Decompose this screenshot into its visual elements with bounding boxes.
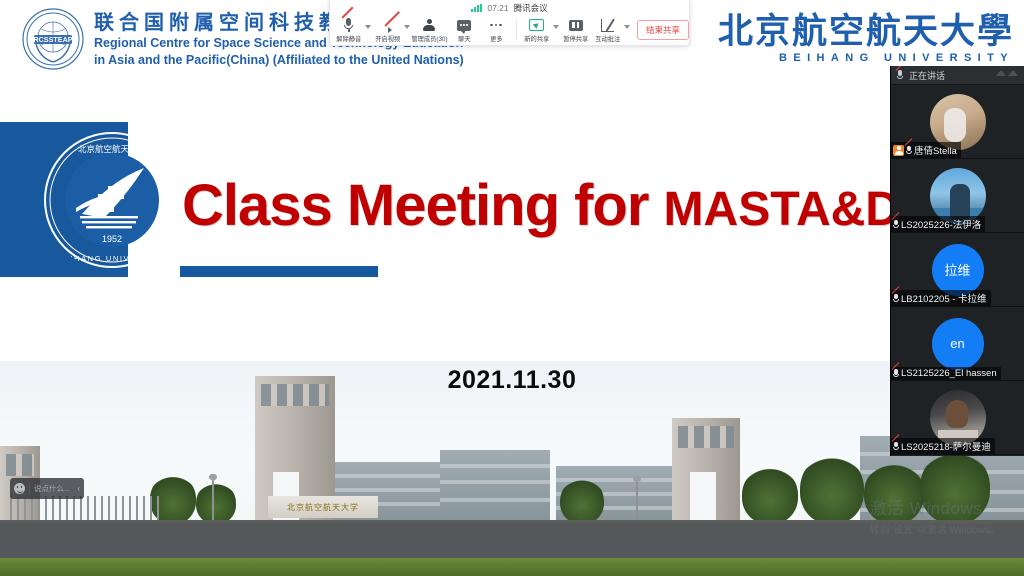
watermark-line1: 激活 Windows: [870, 494, 1000, 519]
unmute-label: 解除静音: [336, 34, 361, 43]
share-options-chevron-down-icon[interactable]: [553, 25, 559, 29]
participant-name-badge: LS2025218-萨尔曼迪: [891, 438, 995, 454]
buaa-seal-logo: 1952 北京航空航天大学 BEIHANG UNIVERSITY: [42, 130, 182, 270]
chat-label: 聊天: [458, 34, 471, 43]
gate-signage-text: 北京航空航天大学: [287, 502, 359, 513]
meeting-status: 07:21 腾讯会议: [330, 1, 689, 14]
mic-muted-icon: [906, 145, 912, 155]
mic-muted-icon: [893, 293, 899, 303]
participant-name-badge: LS2025226-法伊洛: [891, 216, 985, 232]
chat-button[interactable]: 聊天: [448, 14, 480, 46]
participant-name: LS2025226-法伊洛: [901, 217, 981, 231]
annotate-label: 互动批注: [595, 34, 620, 43]
collapse-chevron-up-icon[interactable]: [996, 70, 1018, 76]
participant-name-badge: 唐倩Stella: [891, 142, 961, 158]
participant-name: LS2125226_El hassen: [901, 368, 997, 379]
participant-sidebar: 正在讲话 唐倩Stella LS2025226-法伊洛 拉维 LB2102205…: [890, 66, 1024, 456]
rcssteap-logo-icon: RCSSTEAP: [22, 8, 84, 70]
more-dots-icon: [490, 17, 502, 33]
participant-name: LB2102205 - 卡拉维: [901, 291, 987, 305]
signal-bars-icon: [471, 4, 482, 12]
mic-muted-icon: [893, 441, 899, 451]
participant-tile[interactable]: 拉维 LB2102205 - 卡拉维: [891, 233, 1024, 307]
start-video-label: 开启视频: [375, 34, 400, 43]
buaa-wordmark: 北京航空航天大學 BEIHANG UNIVERSITY: [718, 14, 1014, 64]
mic-muted-icon: [893, 219, 899, 229]
camera-options-chevron-down-icon[interactable]: [404, 25, 410, 29]
gate-signage: 北京航空航天大学: [268, 496, 378, 518]
chat-input-placeholder[interactable]: 说点什么...: [34, 483, 70, 494]
page-title: Class Meeting for MASTA&DOC: [182, 172, 972, 239]
svg-text:RCSSTEAP: RCSSTEAP: [33, 35, 72, 44]
sidebar-header-label: 正在讲话: [909, 69, 945, 82]
manage-participants-button[interactable]: 管理成员(30): [411, 14, 448, 46]
host-badge-icon: [893, 145, 904, 156]
new-share-button[interactable]: 新的共享: [521, 14, 553, 46]
watermark-line2: 转到"设置"以激活 Windows。: [870, 521, 1000, 536]
annotate-pen-icon: [601, 17, 614, 33]
participant-name-badge: LB2102205 - 卡拉维: [891, 290, 991, 306]
sidebar-header: 正在讲话: [891, 66, 1024, 85]
buaa-cn-name: 北京航空航天大學: [718, 14, 1014, 49]
avatar: en: [932, 318, 984, 370]
page-title-main: Class Meeting for: [182, 173, 664, 238]
participant-name: 唐倩Stella: [914, 143, 957, 157]
meeting-toolbar: 07:21 腾讯会议 解除静音 开启视频: [329, 0, 690, 46]
participant-tile[interactable]: 唐倩Stella: [891, 85, 1024, 159]
share-screen-icon: [529, 17, 544, 33]
annotate-options-chevron-down-icon[interactable]: [624, 25, 630, 29]
svg-text:1952: 1952: [102, 234, 122, 244]
participant-tile[interactable]: LS2025226-法伊洛: [891, 159, 1024, 233]
mic-options-chevron-down-icon[interactable]: [365, 25, 371, 29]
meeting-elapsed-time: 07:21: [487, 3, 508, 13]
more-button[interactable]: 更多: [480, 14, 512, 46]
more-label: 更多: [490, 34, 503, 43]
chat-icon: [457, 17, 471, 33]
manage-participants-label: 管理成员(30): [411, 34, 447, 43]
slide-date: 2021.11.30: [0, 366, 1024, 395]
mic-muted-icon: [344, 17, 353, 33]
new-share-label: 新的共享: [524, 34, 549, 43]
divider: [29, 483, 30, 495]
windows-activation-watermark: 激活 Windows 转到"设置"以激活 Windows。: [870, 494, 1000, 536]
toolbar-divider: [516, 20, 517, 40]
participant-name-badge: LS2125226_El hassen: [891, 367, 1001, 380]
screen: 北京航空航天大学 1952 北京航空航天大学 BEIHANG UNIVERSIT…: [0, 0, 1024, 576]
app-name: 腾讯会议: [514, 2, 548, 14]
pause-share-label: 暂停共享: [563, 34, 588, 43]
svg-text:北京航空航天大学: 北京航空航天大学: [78, 144, 147, 155]
avatar: 拉维: [932, 244, 984, 296]
participant-tile[interactable]: en LS2125226_El hassen: [891, 307, 1024, 381]
pause-share-button[interactable]: 暂停共享: [560, 14, 592, 46]
buaa-en-name: BEIHANG UNIVERSITY: [718, 52, 1014, 64]
chat-input-bar[interactable]: 说点什么... ‹: [10, 478, 84, 499]
shared-slide: 北京航空航天大学 1952 北京航空航天大学 BEIHANG UNIVERSIT…: [0, 0, 1024, 576]
end-share-button[interactable]: 结束共享: [637, 20, 689, 40]
participant-name: LS2025218-萨尔曼迪: [901, 439, 991, 453]
participants-icon: [423, 17, 435, 33]
start-video-button[interactable]: 开启视频: [372, 14, 404, 46]
annotate-button[interactable]: 互动批注: [592, 14, 624, 46]
mic-muted-icon: [893, 369, 899, 379]
pause-share-icon: [569, 17, 583, 33]
participant-tile[interactable]: LS2025218-萨尔曼迪: [891, 381, 1024, 455]
smiley-icon[interactable]: [14, 483, 25, 494]
mic-muted-icon: [897, 70, 903, 80]
chevron-left-icon[interactable]: ‹: [77, 484, 80, 493]
title-underline-rule: [180, 266, 378, 277]
unmute-button[interactable]: 解除静音: [333, 14, 365, 46]
rcssteap-en-line2: in Asia and the Pacific(China) (Affiliat…: [94, 52, 464, 69]
